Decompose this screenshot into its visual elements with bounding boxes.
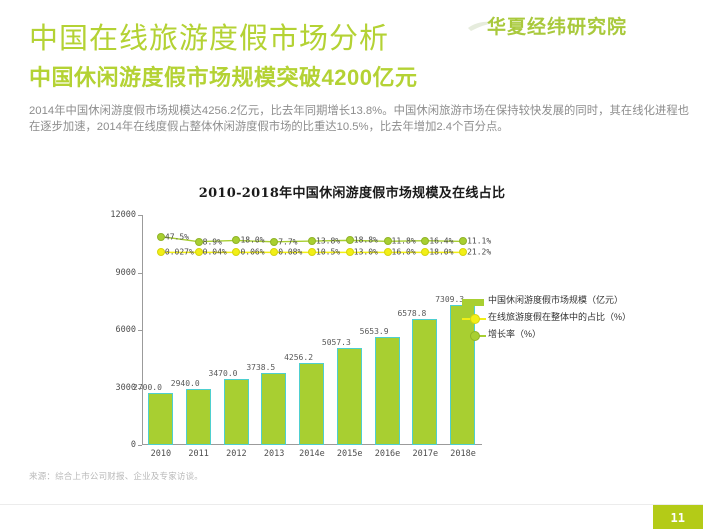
x-axis-tick-label: 2015e [331,449,369,459]
x-axis-tick-label: 2017e [406,449,444,459]
legend-label: 中国休闲游度假市场规模（亿元） [488,295,623,306]
legend-key-line-yellow-icon [462,313,488,324]
legend-item-growth-rate: 增长率（%） [462,329,667,341]
page-number: 11 [671,511,685,525]
bar[interactable] [261,373,286,445]
bar[interactable] [224,379,249,446]
chart-title: 2010-2018年中国休闲游度假市场规模及在线占比 [22,182,682,201]
bar-slot: 3738.5 [255,215,293,445]
brand-logo-text: 华夏经纬研究院 [487,12,627,39]
y-axis-tick-mark [138,445,142,446]
bar-value-label: 4256.2 [284,353,313,362]
legend-key-bar-icon [462,296,488,307]
bar[interactable] [412,319,437,445]
bar-value-label: 5057.3 [322,338,351,347]
bar-value-label: 3738.5 [246,363,275,372]
bar[interactable] [375,337,400,445]
legend-key-line-green-icon [462,330,488,341]
slide-root: 华夏经纬研究院 中国在线旅游度假市场分析 中国休闲游度假市场规模突破4200亿元… [0,0,703,529]
y-axis-tick-label: 6000 [116,325,136,335]
x-axis-tick-label: 2011 [180,449,218,459]
page-subtitle: 中国休闲游度假市场规模突破4200亿元 [29,65,417,91]
chart-card: 2010-2018年中国休闲游度假市场规模及在线占比 0300060009000… [22,160,682,470]
x-axis-tick-label: 2012 [218,449,256,459]
chart-legend: 中国休闲游度假市场规模（亿元） 在线旅游度假在整体中的占比（%） 增长率（%） [462,295,667,346]
y-axis-tick-label: 9000 [116,268,136,278]
x-axis-tick-label: 2018e [444,449,482,459]
legend-label: 在线旅游度假在整体中的占比（%） [488,312,631,323]
bar-series: 2700.02940.03470.03738.54256.25057.35653… [142,215,482,445]
bar-slot: 2940.0 [180,215,218,445]
bar-slot: 5653.9 [369,215,407,445]
bar-slot: 6578.8 [406,215,444,445]
body-paragraph: 2014年中国休闲游度假市场规模达4256.2亿元，比去年同期增长13.8%。中… [29,103,689,135]
bar-value-label: 5653.9 [360,327,389,336]
bar-value-label: 6578.8 [397,309,426,318]
bar-value-label: 7309.3 [435,295,464,304]
y-axis-tick-label: 12000 [110,210,136,220]
x-axis-tick-label: 2013 [255,449,293,459]
bar[interactable] [186,389,211,445]
source-note: 来源：综合上市公司财报、企业及专家访谈。 [29,470,203,482]
bar[interactable] [299,363,324,445]
bar-value-label: 2700.0 [133,383,162,392]
bar-slot: 3470.0 [218,215,256,445]
bar-slot: 4256.2 [293,215,331,445]
bar[interactable] [337,348,362,445]
x-axis-tick-label: 2010 [142,449,180,459]
legend-item-online-share: 在线旅游度假在整体中的占比（%） [462,312,667,324]
bar-value-label: 3470.0 [209,369,238,378]
bar-slot: 2700.0 [142,215,180,445]
x-axis-tick-label: 2016e [369,449,407,459]
page-title: 中国在线旅游度假市场分析 [29,22,389,56]
legend-label: 增长率（%） [488,329,541,340]
bar-value-label: 2940.0 [171,379,200,388]
chart-plot-area: 030006000900012000 2700.02940.03470.0373… [142,215,482,445]
x-axis-tick-label: 2014e [293,449,331,459]
footer-divider [0,504,703,505]
legend-item-market-size: 中国休闲游度假市场规模（亿元） [462,295,667,307]
bar[interactable] [148,393,173,445]
y-axis-tick-label: 0 [131,440,136,450]
